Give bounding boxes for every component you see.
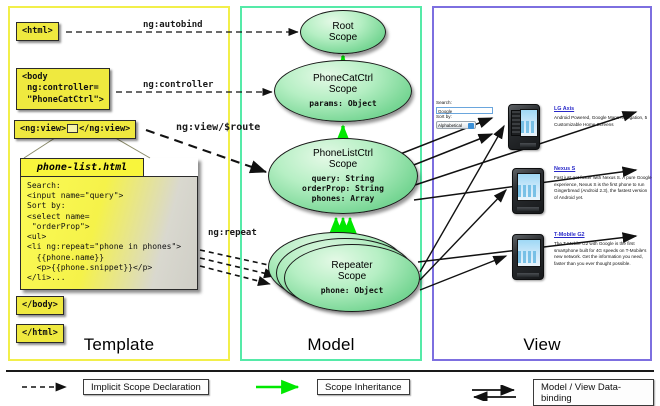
edge-label-controller: ng:controller [143, 80, 213, 90]
scope-phonelistctrl-line1: PhoneListCtrl [313, 148, 373, 159]
phone-screen-icons [518, 185, 538, 197]
phone-title-link[interactable]: T-Mobile G2 [554, 232, 652, 240]
scope-repeater-line1: Repeater [331, 260, 372, 271]
scope-phonelistctrl-line2: Scope [329, 159, 357, 170]
dashed-arrow-icon [20, 379, 78, 395]
tag-ngview-close: </ng:view> [79, 124, 130, 134]
legend-item-implicit-scope: Implicit Scope Declaration [20, 379, 209, 395]
edge-label-repeat: ng:repeat [208, 228, 257, 238]
scope-phonecatctrl-line1: PhoneCatCtrl [313, 73, 373, 84]
legend: Implicit Scope Declaration Scope Inherit… [6, 379, 654, 401]
scope-repeater-props: phone: Object [321, 286, 384, 296]
legend-item-data-binding: Model / View Data-binding [470, 379, 654, 406]
legend-item-scope-inheritance: Scope Inheritance [254, 379, 410, 395]
green-arrow-icon [254, 379, 312, 395]
phone-screen-icons [518, 251, 538, 263]
phone-list-item: T-Mobile G2 The T-Mobile G2 with Google … [554, 232, 652, 267]
code-callout-body: Search: <input name="query"> Sort by: <s… [20, 176, 198, 290]
chevron-down-icon [468, 123, 474, 129]
scope-root-line1: Root [332, 21, 353, 32]
legend-divider [6, 370, 654, 372]
scope-repeater-line2: Scope [338, 271, 366, 282]
phone-description: Fast just got faster with Nexus S. A pur… [554, 175, 652, 201]
phone-screen-icons [521, 121, 535, 133]
scope-phonecatctrl-props: params: Object [309, 99, 376, 109]
phone-title-link[interactable]: LG Axis [554, 106, 652, 114]
scope-phonelistctrl: PhoneListCtrlScope query: String orderPr… [268, 138, 418, 214]
sort-select[interactable]: Alphabetical [436, 121, 476, 129]
panel-model-label: Model [242, 335, 420, 355]
scope-repeater: RepeaterScope phone: Object [284, 244, 420, 312]
diagram-canvas: Template Model View [0, 0, 660, 405]
phone-description: The T-Mobile G2 with Google is the first… [554, 241, 652, 267]
legend-label-implicit-scope: Implicit Scope Declaration [83, 379, 209, 395]
legend-label-scope-inheritance: Scope Inheritance [317, 379, 410, 395]
legend-label-data-binding: Model / View Data-binding [533, 379, 654, 406]
phone-title-link[interactable]: Nexus S [554, 166, 652, 174]
sort-select-value: Alphabetical [438, 123, 462, 128]
scope-phonecatctrl: PhoneCatCtrlScope params: Object [274, 60, 412, 122]
tag-ngview-open: <ng:view> [20, 124, 66, 134]
code-callout-title: phone-list.html [20, 158, 144, 176]
search-input[interactable]: Google [436, 107, 493, 114]
sort-label: Sort by: [436, 114, 498, 121]
view-search-form: Search: Google Sort by: Alphabetical [436, 100, 498, 129]
scope-phonecatctrl-line2: Scope [329, 84, 357, 95]
tag-ngview: <ng:view></ng:view> [14, 120, 136, 139]
phone-list-item: Nexus S Fast just got faster with Nexus … [554, 166, 652, 201]
phone-list-item: LG Axis Android Powered, Google Maps Nav… [554, 106, 652, 128]
tag-body-close: </body> [16, 296, 64, 315]
phone-bottom-bar [517, 207, 539, 211]
double-arrow-icon [470, 385, 528, 401]
phone-thumbnail[interactable] [512, 168, 544, 214]
phone-bottom-bar [520, 143, 536, 147]
tag-html-close: </html> [16, 324, 64, 343]
tag-body-open: <body ng:controller= "PhoneCatCtrl"> [16, 68, 110, 110]
search-label: Search: [436, 100, 498, 107]
phone-thumbnail[interactable] [508, 104, 540, 150]
code-callout: phone-list.html Search: <input name="que… [20, 158, 198, 290]
phone-thumbnail[interactable] [512, 234, 544, 280]
phone-bottom-bar [517, 273, 539, 277]
edge-label-route: ng:view/$route [176, 122, 260, 133]
scope-root-line2: Scope [329, 32, 357, 43]
phone-description: Android Powered, Google Maps Navigation,… [554, 115, 652, 128]
panel-view-label: View [434, 335, 650, 355]
tag-html-open: <html> [16, 22, 59, 41]
ngview-slot-icon [67, 124, 78, 133]
scope-phonelistctrl-props: query: String orderProp: String phones: … [302, 174, 384, 204]
scope-root: RootScope [300, 10, 386, 54]
edge-label-autobind: ng:autobind [143, 20, 203, 30]
